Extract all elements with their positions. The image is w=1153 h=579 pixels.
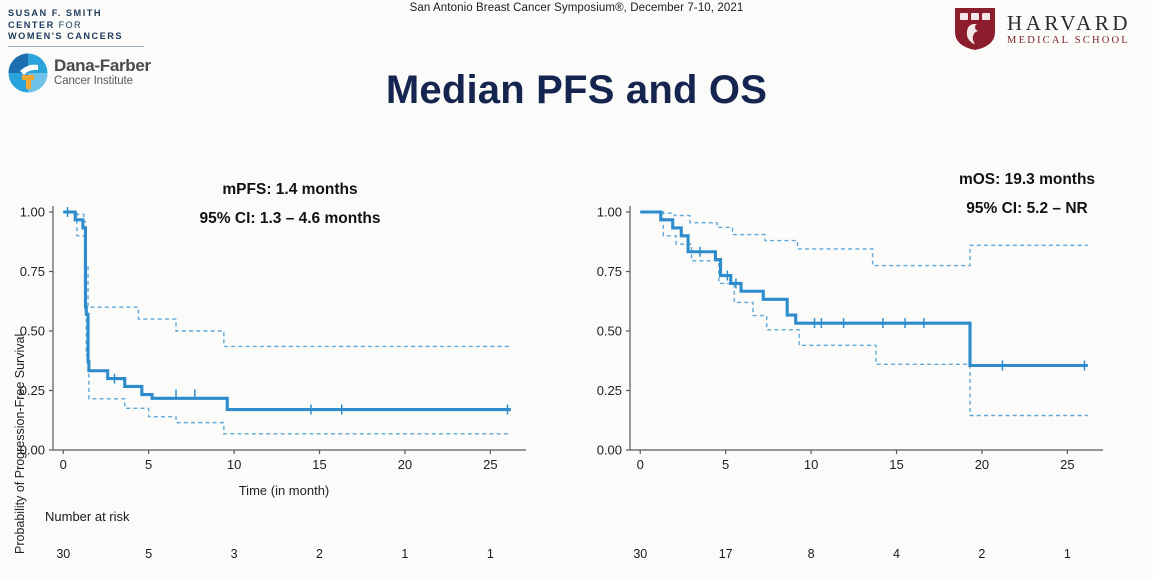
svg-text:0: 0: [637, 457, 644, 472]
svg-text:0.25: 0.25: [597, 383, 622, 398]
ssc-for-word: FOR: [55, 20, 82, 30]
os-risk-row: 30178421: [577, 547, 1153, 567]
risk-value: 17: [719, 547, 733, 561]
risk-value: 1: [487, 547, 494, 561]
harvard-line-1: HARVARD: [1007, 12, 1131, 34]
ssc-line-2: CENTER FOR: [8, 20, 183, 32]
svg-text:0.25: 0.25: [20, 383, 45, 398]
svg-text:1.00: 1.00: [20, 205, 45, 220]
ssc-center-word: CENTER: [8, 20, 55, 30]
risk-value: 30: [633, 547, 647, 561]
page-title: Median PFS and OS: [0, 68, 1153, 113]
risk-value: 8: [808, 547, 815, 561]
pfs-risk-label: Number at risk: [45, 509, 130, 524]
harvard-medical-school-logo: HARVARD MEDICAL SCHOOL: [953, 6, 1131, 52]
svg-text:10: 10: [804, 457, 818, 472]
svg-text:15: 15: [889, 457, 903, 472]
harvard-shield-icon: [953, 6, 997, 52]
svg-text:25: 25: [1060, 457, 1074, 472]
svg-text:10: 10: [227, 457, 241, 472]
risk-value: 5: [145, 547, 152, 561]
risk-value: 4: [893, 547, 900, 561]
ssc-line-1: SUSAN F. SMITH: [8, 8, 183, 20]
pfs-risk-row: 3053211: [0, 547, 576, 567]
pfs-panel: mPFS: 1.4 months 95% CI: 1.3 – 4.6 month…: [0, 150, 576, 579]
svg-text:0.50: 0.50: [20, 324, 45, 339]
svg-text:0.00: 0.00: [20, 443, 45, 458]
risk-value: 30: [56, 547, 70, 561]
risk-value: 2: [978, 547, 985, 561]
svg-text:0.00: 0.00: [597, 443, 622, 458]
svg-text:0.50: 0.50: [597, 324, 622, 339]
svg-text:20: 20: [975, 457, 989, 472]
ssc-line-3: WOMEN'S CANCERS: [8, 31, 183, 43]
svg-text:0.75: 0.75: [597, 264, 622, 279]
svg-text:1.00: 1.00: [597, 205, 622, 220]
os-plot: 0.000.250.500.751.000510152025: [577, 150, 1153, 490]
risk-value: 1: [401, 547, 408, 561]
svg-text:15: 15: [312, 457, 326, 472]
harvard-line-2: MEDICAL SCHOOL: [1007, 34, 1131, 47]
svg-text:25: 25: [483, 457, 497, 472]
pfs-x-axis-label: Time (in month): [239, 483, 330, 498]
os-panel: mOS: 19.3 months 95% CI: 5.2 – NR Probab…: [577, 150, 1153, 579]
slide: San Antonio Breast Cancer Symposium®, De…: [0, 0, 1153, 579]
pfs-plot: 0.000.250.500.751.000510152025: [0, 150, 576, 490]
svg-text:0.75: 0.75: [20, 264, 45, 279]
ssc-divider: [8, 46, 144, 47]
risk-value: 3: [231, 547, 238, 561]
risk-value: 1: [1064, 547, 1071, 561]
svg-text:0: 0: [60, 457, 67, 472]
risk-value: 2: [316, 547, 323, 561]
svg-text:5: 5: [722, 457, 729, 472]
svg-text:20: 20: [398, 457, 412, 472]
harvard-wordmark: HARVARD MEDICAL SCHOOL: [1007, 12, 1131, 47]
svg-text:5: 5: [145, 457, 152, 472]
